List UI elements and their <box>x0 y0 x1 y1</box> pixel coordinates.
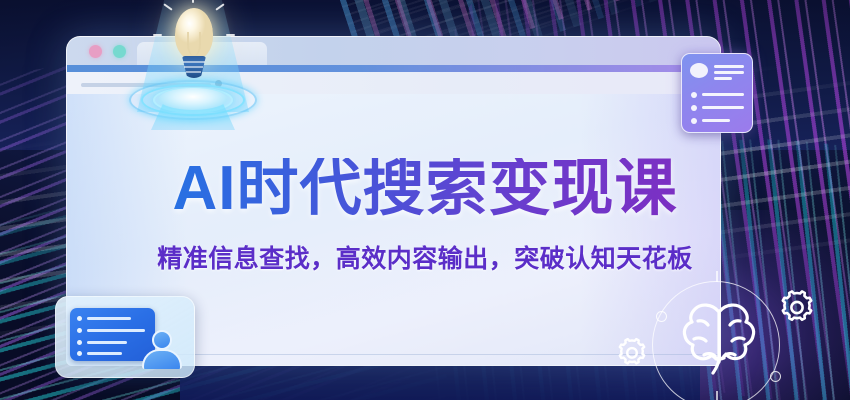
bullet-icon <box>691 118 697 124</box>
list-item <box>702 119 730 122</box>
gear-icon-large <box>776 289 818 331</box>
list-item <box>87 329 145 332</box>
contact-list-card[interactable] <box>55 296 195 378</box>
bullet-icon <box>77 316 82 321</box>
lightbulb-ray-icon <box>226 34 235 36</box>
brain-cluster <box>630 285 820 400</box>
user-icon-body <box>142 349 182 369</box>
avatar <box>690 63 708 78</box>
brain-icon <box>672 299 768 383</box>
bullet-icon <box>77 351 82 356</box>
list-item <box>702 93 744 96</box>
bullet-icon <box>77 328 82 333</box>
orbit-node-icon <box>656 311 667 322</box>
list-card-icon[interactable] <box>681 53 753 133</box>
poster-canvas: AI时代搜索变现课 精准信息查找，高效内容输出，突破认知天花板 <box>0 0 850 400</box>
lightbulb-rib <box>184 66 203 68</box>
page-subtitle: 精准信息查找，高效内容输出，突破认知天花板 <box>0 239 850 275</box>
lightbulb-hologram <box>123 0 263 142</box>
list-item <box>87 341 127 344</box>
contact-list-icon <box>70 308 155 361</box>
window-dot-pink-icon[interactable] <box>89 45 102 58</box>
list-item <box>87 352 122 355</box>
bullet-icon <box>691 105 697 111</box>
orbit-tick <box>716 391 718 400</box>
user-icon-head <box>152 330 172 350</box>
hologram-plate <box>159 88 227 110</box>
card-header-line <box>714 77 732 80</box>
bullet-icon <box>77 340 82 345</box>
lightbulb-rib <box>183 61 205 63</box>
lightbulb-ray-icon <box>153 34 162 36</box>
page-title: AI时代搜索变现课 <box>0 158 850 220</box>
gear-icon-small <box>614 337 650 373</box>
lightbulb-ray-icon <box>192 0 194 3</box>
list-item <box>702 106 744 109</box>
orbit-tick <box>716 271 718 282</box>
card-header-line <box>714 65 744 68</box>
orbit-node-icon <box>770 371 781 382</box>
list-item <box>87 317 131 320</box>
lightbulb-rib <box>186 71 201 73</box>
card-header-line <box>714 71 744 74</box>
lightbulb-filament-icon <box>187 32 201 56</box>
bullet-icon <box>691 92 697 98</box>
